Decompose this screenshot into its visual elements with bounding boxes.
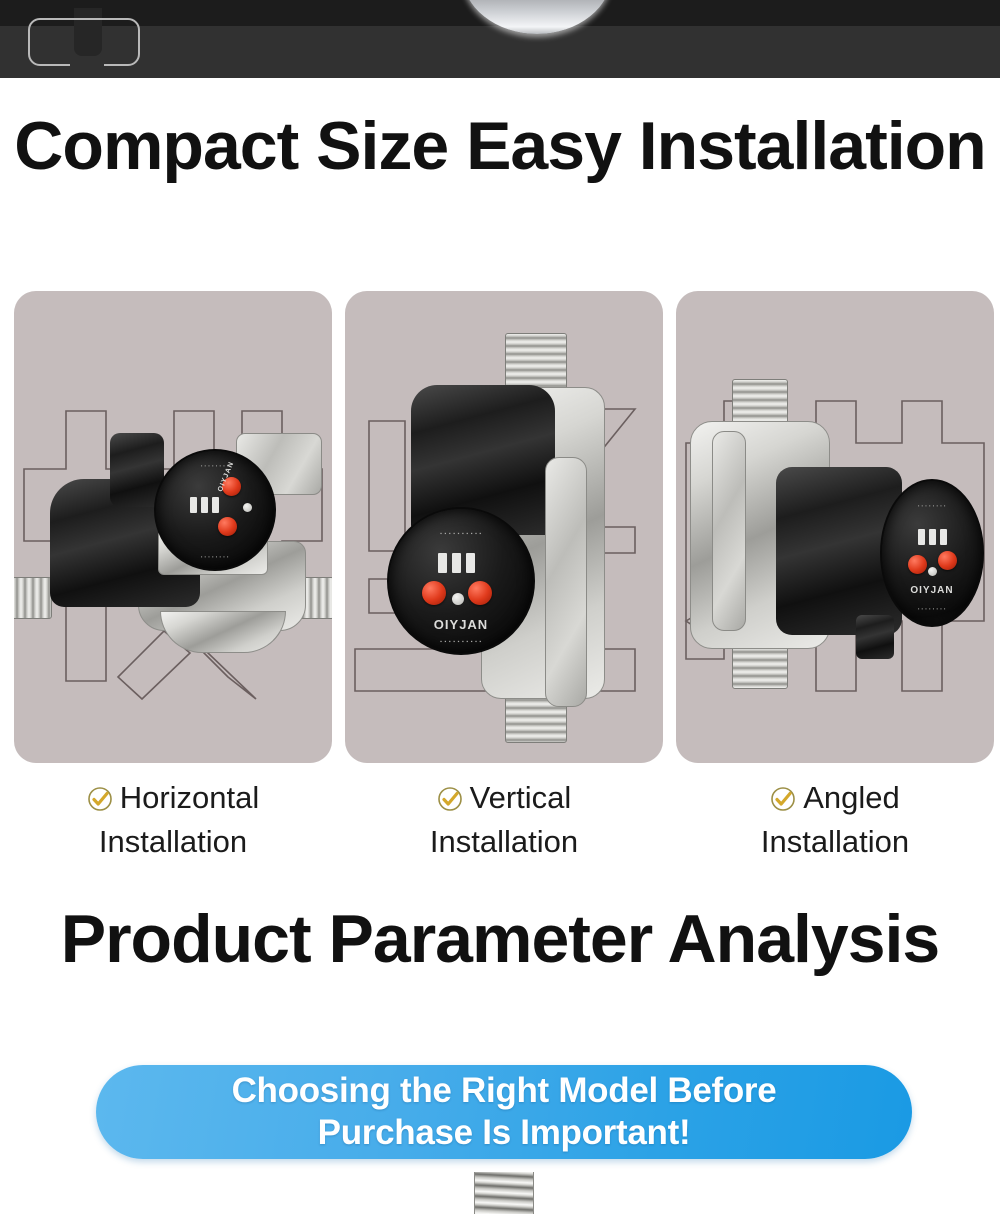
dial-led-1 xyxy=(190,497,197,513)
cta-line-2: Purchase Is Important! xyxy=(318,1113,691,1152)
dial-button-mode xyxy=(422,581,446,605)
dial-bottom-legend: ▪ ▪ ▪ ▪ ▪ ▪ ▪ ▪ xyxy=(156,554,274,559)
pump-port-top xyxy=(505,333,567,391)
dial-top-legend: ▪ ▪ ▪ ▪ ▪ ▪ ▪ ▪ ▪ ▪ xyxy=(389,531,533,537)
caption-line-1: Vertical xyxy=(345,778,663,822)
panel-vertical-installation: OIYJAN ▪ ▪ ▪ ▪ ▪ ▪ ▪ ▪ ▪ ▪ ▪ ▪ ▪ ▪ ▪ ▪ ▪… xyxy=(345,291,663,763)
panel-angled-installation: OIYJAN ▪ ▪ ▪ ▪ ▪ ▪ ▪ ▪ ▪ ▪ ▪ ▪ ▪ ▪ ▪ ▪ xyxy=(676,291,994,763)
caption-line-1: Horizontal xyxy=(14,778,332,822)
caption-text-2: Installation xyxy=(14,822,332,862)
dial-brand-label: OIYJAN xyxy=(389,617,533,632)
dial-led-3 xyxy=(940,529,947,545)
pump-mounting-plate xyxy=(545,457,587,707)
pump-port-left xyxy=(14,577,52,619)
dial-led-2 xyxy=(452,553,461,573)
pump-vertical: OIYJAN ▪ ▪ ▪ ▪ ▪ ▪ ▪ ▪ ▪ ▪ ▪ ▪ ▪ ▪ ▪ ▪ ▪… xyxy=(345,291,663,763)
dial-button-power xyxy=(218,517,237,536)
dial-led-1 xyxy=(438,553,447,573)
dial-led-2 xyxy=(929,529,936,545)
top-hardware-strip xyxy=(0,0,1000,78)
caption-text-1: Angled xyxy=(803,780,900,815)
pump-control-dial: OIYJAN ▪ ▪ ▪ ▪ ▪ ▪ ▪ ▪ ▪ ▪ ▪ ▪ ▪ ▪ ▪ ▪ xyxy=(154,449,276,571)
page-title-parameter-analysis: Product Parameter Analysis xyxy=(0,905,1000,974)
dial-top-legend: ▪ ▪ ▪ ▪ ▪ ▪ ▪ ▪ xyxy=(156,463,274,468)
pump-control-dial: OIYJAN ▪ ▪ ▪ ▪ ▪ ▪ ▪ ▪ ▪ ▪ ▪ ▪ ▪ ▪ ▪ ▪ ▪… xyxy=(387,507,535,655)
pump-mounting-plate xyxy=(712,431,746,631)
dial-status-dot xyxy=(928,567,937,576)
dial-status-dot xyxy=(243,503,252,512)
page-title-installation: Compact Size Easy Installation xyxy=(0,112,1000,181)
cta-banner[interactable]: Choosing the Right Model Before Purchase… xyxy=(96,1065,912,1159)
pump-angled: OIYJAN ▪ ▪ ▪ ▪ ▪ ▪ ▪ ▪ ▪ ▪ ▪ ▪ ▪ ▪ ▪ ▪ xyxy=(676,291,994,763)
dial-led-2 xyxy=(201,497,208,513)
dial-button-mode xyxy=(908,555,927,574)
caption-text-1: Vertical xyxy=(470,780,572,815)
dial-led-1 xyxy=(918,529,925,545)
caption-text-2: Installation xyxy=(345,822,663,862)
threaded-pipe-fitting xyxy=(474,1172,534,1214)
caption-text-1: Horizontal xyxy=(120,780,260,815)
dial-brand-label: OIYJAN xyxy=(882,585,982,596)
cta-banner-text: Choosing the Right Model Before Purchase… xyxy=(232,1070,777,1154)
dial-top-legend: ▪ ▪ ▪ ▪ ▪ ▪ ▪ ▪ xyxy=(882,503,982,508)
bracket-notch xyxy=(70,60,104,69)
installation-panel-row: OIYJAN ▪ ▪ ▪ ▪ ▪ ▪ ▪ ▪ ▪ ▪ ▪ ▪ ▪ ▪ ▪ ▪ xyxy=(0,291,1000,763)
check-circle-icon xyxy=(770,782,796,822)
panel-horizontal-installation: OIYJAN ▪ ▪ ▪ ▪ ▪ ▪ ▪ ▪ ▪ ▪ ▪ ▪ ▪ ▪ ▪ ▪ xyxy=(14,291,332,763)
caption-horizontal-installation: Horizontal Installation xyxy=(14,778,332,861)
caption-line-1: Angled xyxy=(676,778,994,822)
check-circle-icon xyxy=(437,782,463,822)
check-circle-icon xyxy=(87,782,113,822)
caption-angled-installation: Angled Installation xyxy=(676,778,994,861)
dial-button-power xyxy=(468,581,492,605)
dial-led-3 xyxy=(466,553,475,573)
dial-button-power xyxy=(938,551,957,570)
pump-horizontal: OIYJAN ▪ ▪ ▪ ▪ ▪ ▪ ▪ ▪ ▪ ▪ ▪ ▪ ▪ ▪ ▪ ▪ xyxy=(14,291,332,763)
dial-status-dot xyxy=(452,593,464,605)
mounting-bracket-outline xyxy=(28,18,140,66)
cta-line-1: Choosing the Right Model Before xyxy=(232,1071,777,1110)
pump-control-dial: OIYJAN ▪ ▪ ▪ ▪ ▪ ▪ ▪ ▪ ▪ ▪ ▪ ▪ ▪ ▪ ▪ ▪ xyxy=(880,479,984,627)
dial-bottom-legend: ▪ ▪ ▪ ▪ ▪ ▪ ▪ ▪ ▪ ▪ xyxy=(389,639,533,645)
pump-port-top xyxy=(732,379,788,427)
caption-text-2: Installation xyxy=(676,822,994,862)
caption-vertical-installation: Vertical Installation xyxy=(345,778,663,861)
pump-volute-lower xyxy=(160,611,286,653)
pump-terminal-box xyxy=(856,615,894,659)
dial-bottom-legend: ▪ ▪ ▪ ▪ ▪ ▪ ▪ ▪ xyxy=(882,606,982,611)
